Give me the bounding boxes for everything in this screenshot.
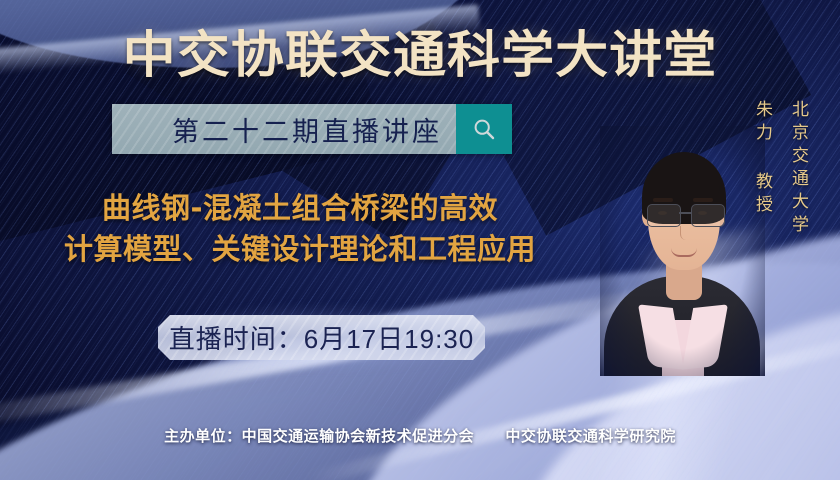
glasses-lens-left — [647, 204, 681, 227]
speaker-photo — [600, 126, 765, 376]
speaker-organization-caption: 北京交通大学 — [786, 100, 811, 238]
glasses-lens-right — [691, 204, 725, 227]
lecture-topic-line1: 曲线钢-混凝土组合桥梁的高效 — [102, 191, 498, 225]
speaker-glasses — [647, 204, 723, 226]
episode-banner-label: 第二十二期直播讲座 — [112, 104, 456, 154]
footer-organizers: 主办单位：中国交通运输协会新技术促进分会 中交协联交通科学研究院 — [0, 425, 840, 446]
search-button[interactable] — [456, 104, 512, 154]
speaker-eyebrow-left — [653, 198, 673, 202]
speaker-name-caption: 朱力 教授 — [750, 100, 775, 218]
lecture-topic-line2: 计算模型、关键设计理论和工程应用 — [0, 229, 600, 270]
footer-organizer: 主办单位：中国交通运输协会新技术促进分会 — [164, 428, 474, 445]
footer-institute: 中交协联交通科学研究院 — [505, 428, 676, 445]
page-title: 中交协联交通科学大讲堂 — [0, 15, 840, 87]
live-lecture-poster: 朱力 教授 北京交通大学 中交协联交通科学大讲堂 第二十二期直播讲座 曲线钢-混… — [0, 0, 840, 480]
speaker-eyebrow-right — [693, 198, 713, 202]
episode-banner: 第二十二期直播讲座 — [112, 104, 512, 154]
speaker-nose — [680, 226, 689, 240]
search-icon — [472, 117, 496, 141]
lecture-topic: 曲线钢-混凝土组合桥梁的高效 计算模型、关键设计理论和工程应用 — [0, 188, 600, 270]
glasses-bridge — [679, 212, 691, 214]
broadcast-time-badge: 直播时间：6月17日19:30 — [158, 315, 485, 360]
